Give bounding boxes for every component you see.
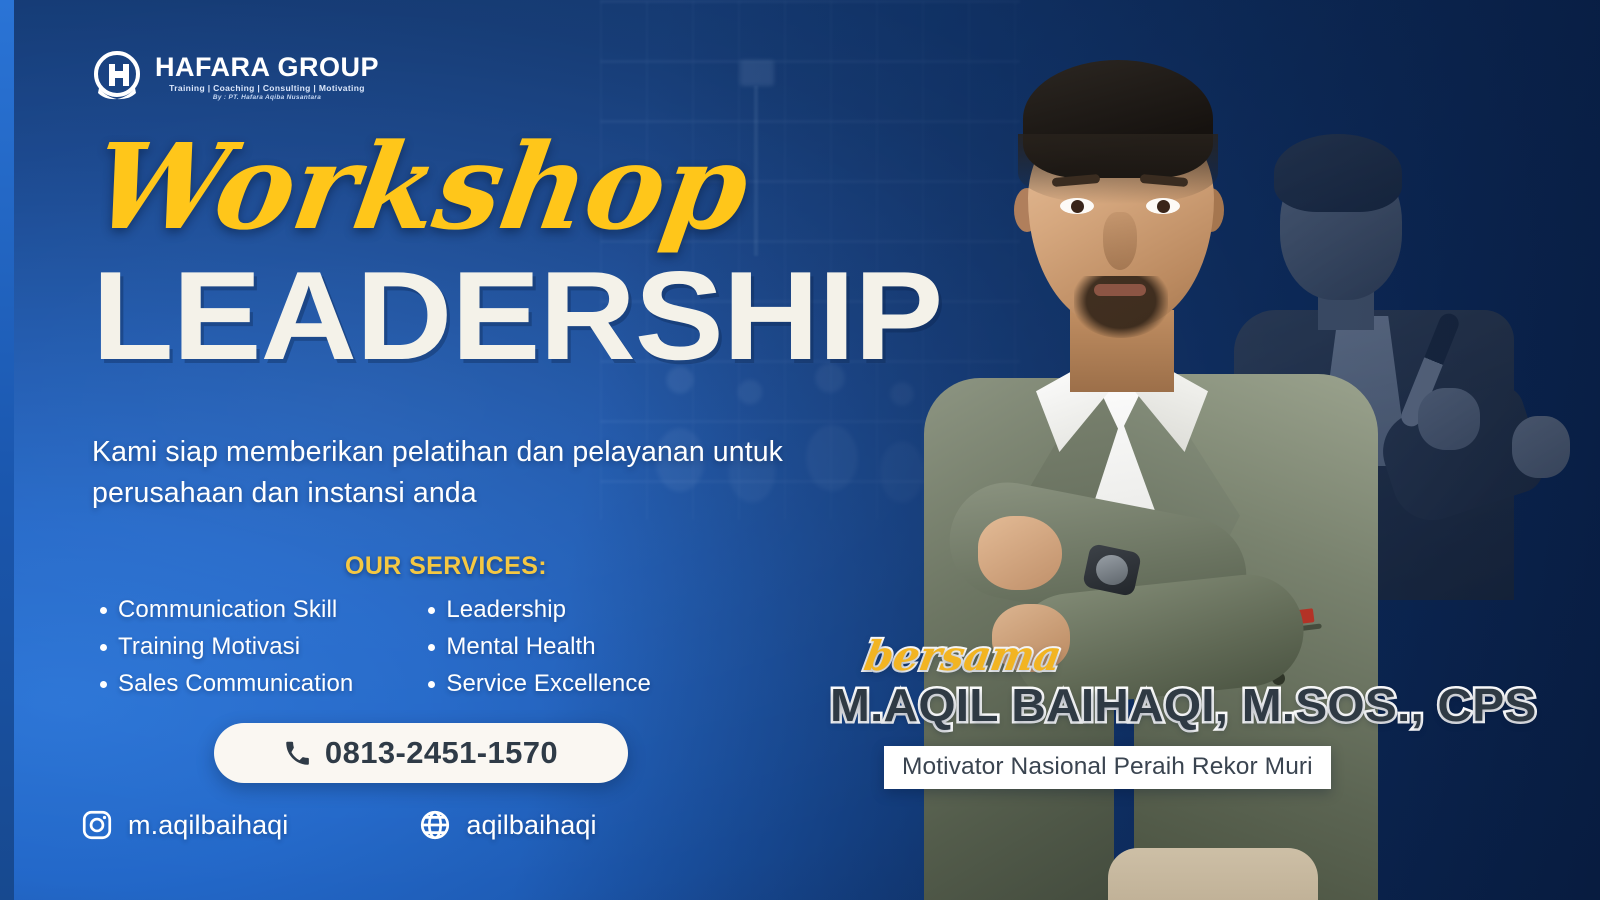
phone-cta-button[interactable]: 0813-2451-1570 (214, 723, 628, 783)
brand-tagline: Training | Coaching | Consulting | Motiv… (155, 84, 379, 93)
service-label: Mental Health (446, 633, 595, 661)
ghost-hand (1418, 388, 1480, 450)
speaker-hand-upper (978, 516, 1062, 590)
headline-script-workshop: Workshop (86, 128, 756, 246)
speaker-nose (1103, 212, 1137, 270)
bullet-icon (428, 607, 435, 614)
list-item: Leadership (428, 596, 651, 624)
service-label: Communication Skill (118, 596, 337, 624)
watch-face (1093, 552, 1131, 588)
speaker-eye-right (1146, 198, 1180, 214)
services-list: Communication Skill Training Motivasi Sa… (100, 596, 651, 698)
left-edge-accent (0, 0, 14, 900)
list-item: Sales Communication (100, 670, 353, 698)
speaker-pupil-right (1157, 200, 1170, 213)
social-links-row: m.aqilbaihaqi aqilbaihaqi (80, 808, 597, 842)
bullet-icon (428, 681, 435, 688)
website-handle: aqilbaihaqi (466, 810, 596, 841)
headline-leadership: LEADERSHIP (92, 253, 942, 379)
list-item: Training Motivasi (100, 633, 353, 661)
hafara-h-emblem-icon (88, 48, 146, 106)
brand-name: HAFARA GROUP (155, 54, 379, 81)
speaker-prefix-bersama: bersama (861, 632, 1065, 680)
bullet-icon (100, 644, 107, 651)
service-label: Leadership (446, 596, 566, 624)
service-label: Training Motivasi (118, 633, 300, 661)
ghost-hand-raised (1512, 416, 1570, 478)
instagram-icon (80, 808, 114, 842)
speaker-trousers (1108, 848, 1318, 900)
instagram-link[interactable]: m.aqilbaihaqi (80, 808, 288, 842)
brand-logo: HAFARA GROUP Training | Coaching | Consu… (88, 48, 379, 106)
speaker-eye-left (1060, 198, 1094, 214)
services-heading: OUR SERVICES: (345, 552, 547, 581)
subtitle-text: Kami siap memberikan pelatihan dan pelay… (92, 432, 882, 515)
speaker-title-badge: Motivator Nasional Peraih Rekor Muri (884, 746, 1331, 789)
instagram-handle: m.aqilbaihaqi (128, 810, 288, 841)
speaker-name: M.AQIL BAIHAQI, M.SOS., CPS (830, 678, 1536, 732)
list-item: Communication Skill (100, 596, 353, 624)
website-link[interactable]: aqilbaihaqi (418, 808, 596, 842)
list-item: Service Excellence (428, 670, 651, 698)
services-column-left: Communication Skill Training Motivasi Sa… (100, 596, 353, 698)
speaker-pupil-left (1071, 200, 1084, 213)
speaker-hair-fade (1018, 134, 1218, 204)
list-item: Mental Health (428, 633, 651, 661)
service-label: Sales Communication (118, 670, 353, 698)
phone-number: 0813-2451-1570 (325, 735, 558, 771)
services-column-right: Leadership Mental Health Service Excelle… (428, 596, 651, 698)
bullet-icon (428, 644, 435, 651)
brand-legal-name: By : PT. Hafara Aqiba Nusantara (155, 95, 379, 102)
phone-handset-icon (284, 740, 311, 767)
bullet-icon (100, 681, 107, 688)
globe-icon (418, 808, 452, 842)
service-label: Service Excellence (446, 670, 651, 698)
bullet-icon (100, 607, 107, 614)
brand-logo-text: HAFARA GROUP Training | Coaching | Consu… (155, 52, 379, 102)
speaker-mouth (1094, 284, 1146, 296)
workshop-leadership-poster: HAFARA GROUP Training | Coaching | Consu… (0, 0, 1600, 900)
